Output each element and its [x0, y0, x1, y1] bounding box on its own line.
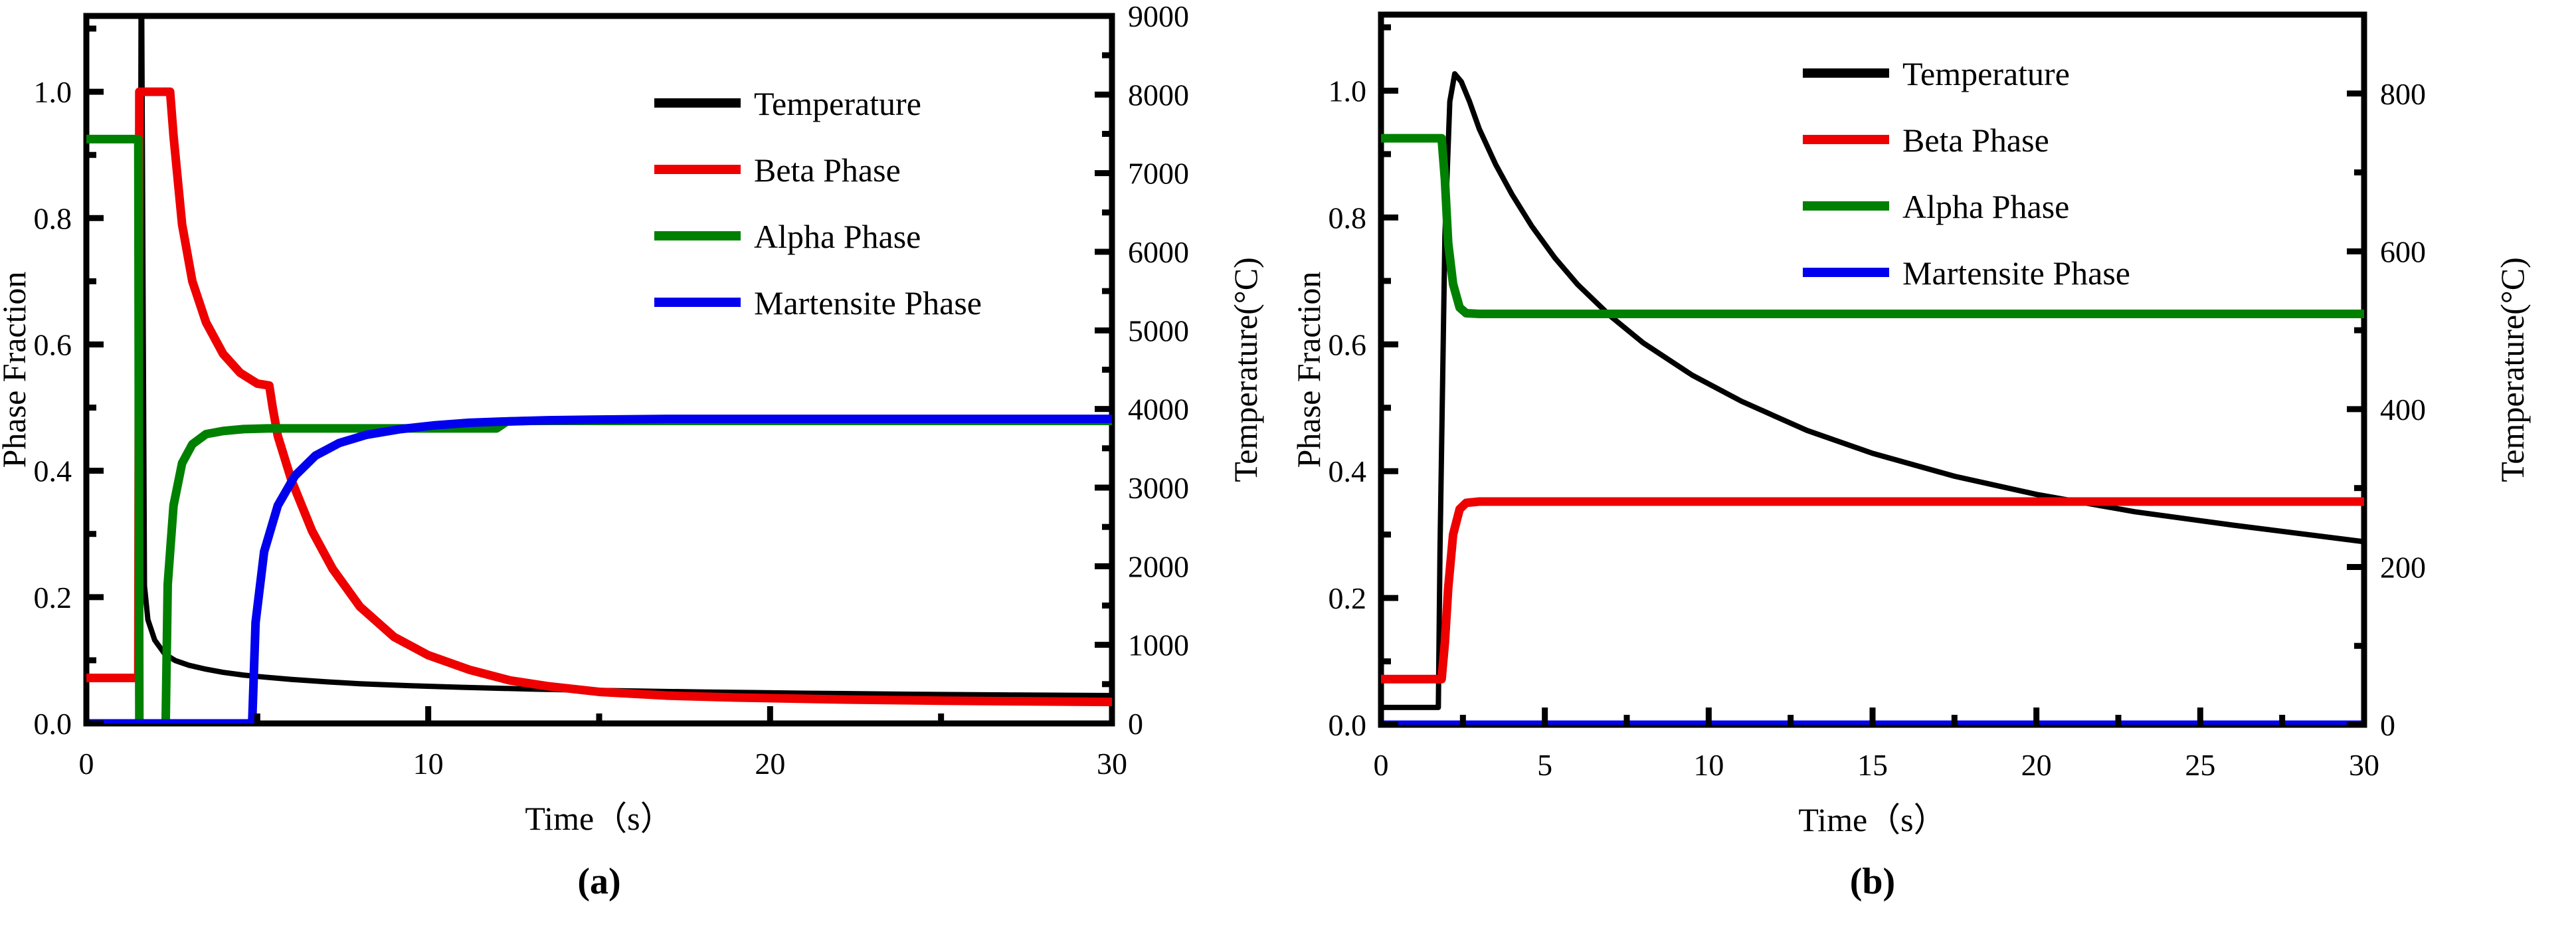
legend-label-martensite-phase: Martensite Phase — [1902, 254, 2130, 292]
x-axis-label: Time（s） — [525, 800, 673, 837]
legend: TemperatureBeta PhaseAlpha PhaseMartensi… — [1803, 55, 2130, 292]
y2-tick-label: 4000 — [1128, 393, 1189, 426]
figure-root: 01020300.00.20.40.60.81.0010002000300040… — [0, 0, 2576, 944]
y-axis-left-label: Phase Fraction — [0, 272, 33, 468]
plot-area — [86, 16, 1112, 723]
y2-tick-label: 7000 — [1128, 157, 1189, 191]
x-tick-label: 15 — [1857, 748, 1888, 782]
chart-panel-b: 0510152025300.00.20.40.60.81.00200400600… — [1288, 0, 2576, 944]
y-tick-label: 0.0 — [1329, 708, 1367, 742]
chart-panel-a: 01020300.00.20.40.60.81.0010002000300040… — [0, 0, 1288, 944]
legend-label-beta-phase: Beta Phase — [754, 151, 901, 189]
series-line-temperature — [1381, 74, 2364, 708]
y2-tick-label: 0 — [1128, 707, 1143, 741]
y2-tick-label: 8000 — [1128, 78, 1189, 112]
plot-area — [1381, 74, 2364, 725]
series-line-beta-phase — [86, 92, 1112, 702]
y-tick-label: 0.6 — [1329, 328, 1367, 361]
x-tick-label: 20 — [755, 747, 785, 781]
y-tick-label: 1.0 — [1329, 74, 1367, 108]
panel-caption: (b) — [1850, 861, 1895, 902]
x-axis-ticks: 051015202530 — [1374, 708, 2380, 782]
legend-label-temperature: Temperature — [754, 85, 921, 122]
x-tick-label: 10 — [413, 747, 444, 781]
series-line-alpha-phase — [86, 139, 1112, 723]
y-tick-label: 0.8 — [34, 201, 72, 235]
y2-tick-label: 6000 — [1128, 235, 1189, 269]
y2-tick-label: 9000 — [1128, 0, 1189, 33]
y2-tick-label: 2000 — [1128, 549, 1189, 583]
plot-frame — [1381, 15, 2364, 725]
y-axis-right-ticks: 0200400600800 — [2347, 77, 2426, 742]
legend-label-temperature: Temperature — [1902, 55, 2070, 92]
y-tick-label: 1.0 — [34, 75, 72, 109]
x-axis-ticks: 0102030 — [79, 706, 1128, 781]
x-axis-label: Time（s） — [1798, 801, 1946, 838]
y2-tick-label: 3000 — [1128, 471, 1189, 505]
y-axis-right-label: Temperature(°C) — [1227, 257, 1264, 482]
x-tick-label: 20 — [2021, 748, 2052, 782]
y-tick-label: 0.0 — [34, 707, 72, 741]
x-tick-label: 25 — [2185, 748, 2215, 782]
panel-caption: (a) — [577, 861, 620, 902]
y-axis-left-label: Phase Fraction — [1290, 272, 1327, 468]
y-tick-label: 0.4 — [34, 454, 72, 488]
legend-label-martensite-phase: Martensite Phase — [754, 284, 982, 322]
x-tick-label: 5 — [1537, 748, 1552, 782]
y-tick-label: 0.2 — [1329, 581, 1367, 615]
y-axis-right-label: Temperature(°C) — [2494, 257, 2531, 482]
legend-label-alpha-phase: Alpha Phase — [754, 218, 921, 255]
chart-svg-b: 0510152025300.00.20.40.60.81.00200400600… — [1288, 0, 2576, 944]
series-line-martensite-phase — [86, 419, 1112, 723]
series-line-alpha-phase — [1381, 138, 2364, 314]
legend-label-beta-phase: Beta Phase — [1902, 122, 2049, 159]
y2-tick-label: 1000 — [1128, 628, 1189, 662]
series-line-beta-phase — [1381, 502, 2364, 679]
x-tick-label: 0 — [1374, 748, 1389, 782]
x-tick-label: 30 — [1097, 747, 1127, 781]
y-tick-label: 0.8 — [1329, 201, 1367, 235]
y-tick-label: 0.6 — [34, 328, 72, 361]
y-axis-right-ticks: 0100020003000400050006000700080009000 — [1095, 0, 1189, 741]
y2-tick-label: 400 — [2380, 393, 2426, 426]
y-tick-label: 0.4 — [1329, 454, 1367, 488]
y2-tick-label: 600 — [2380, 235, 2426, 268]
y2-tick-label: 0 — [2380, 708, 2395, 742]
x-tick-label: 30 — [2349, 748, 2379, 782]
legend-label-alpha-phase: Alpha Phase — [1902, 188, 2069, 225]
legend: TemperatureBeta PhaseAlpha PhaseMartensi… — [654, 85, 982, 322]
chart-svg-a: 01020300.00.20.40.60.81.0010002000300040… — [0, 0, 1288, 944]
x-tick-label: 10 — [1693, 748, 1724, 782]
y2-tick-label: 800 — [2380, 77, 2426, 111]
y2-tick-label: 200 — [2380, 550, 2426, 584]
y-tick-label: 0.2 — [34, 581, 72, 614]
x-tick-label: 0 — [79, 747, 94, 781]
y2-tick-label: 5000 — [1128, 314, 1189, 347]
